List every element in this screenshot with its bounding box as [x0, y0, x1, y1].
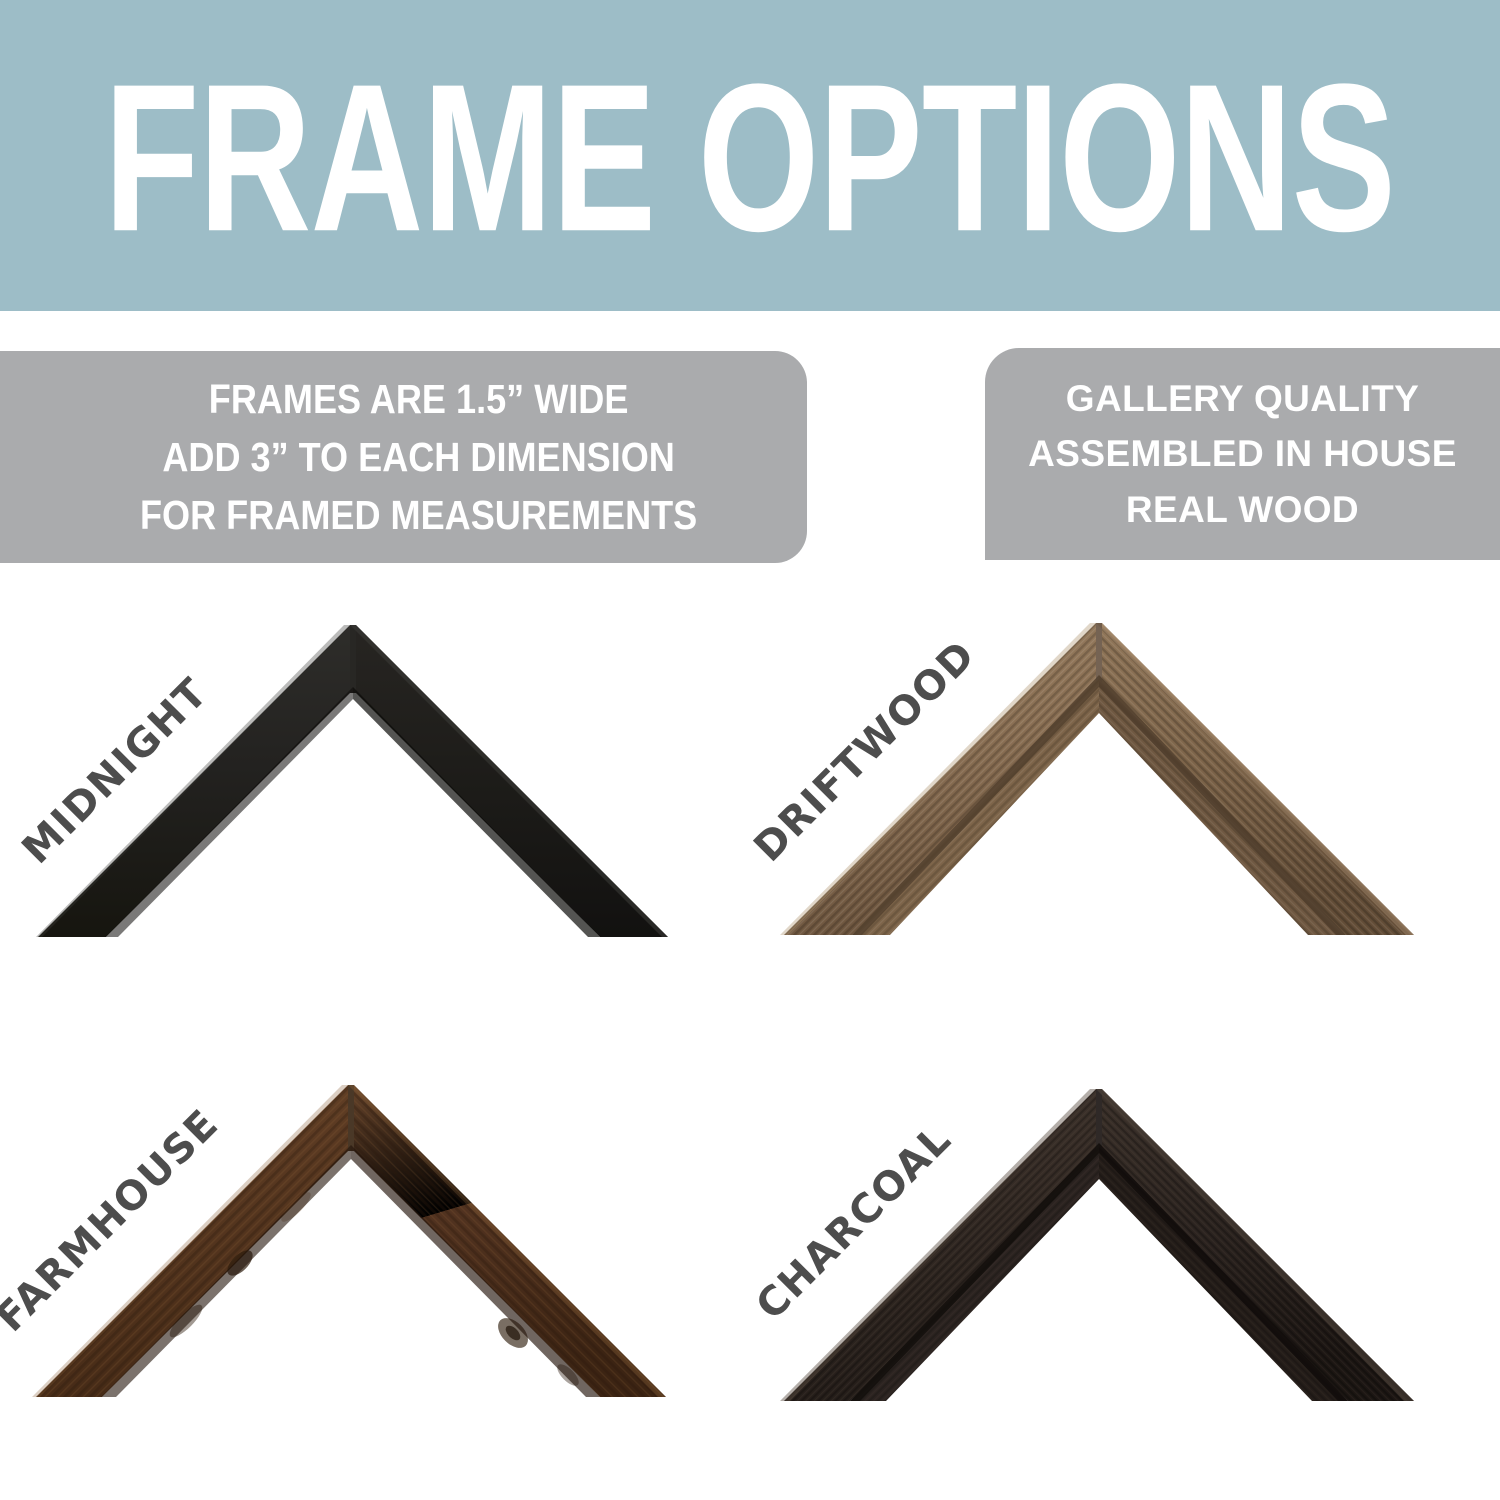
header-banner: FRAME OPTIONS	[0, 0, 1500, 311]
measurements-note-text: FRAMES ARE 1.5” WIDE ADD 3” TO EACH DIME…	[140, 370, 697, 545]
frame-option-midnight[interactable]: MIDNIGHT	[0, 575, 750, 1035]
page-title: FRAME OPTIONS	[104, 53, 1395, 263]
frame-corner-image-charcoal	[778, 1075, 1428, 1405]
frame-corner-image-farmhouse	[28, 1075, 678, 1405]
frame-option-driftwood[interactable]: DRIFTWOOD	[750, 575, 1500, 1035]
frame-options-grid: MIDNIGHT	[0, 575, 1500, 1500]
frame-option-charcoal[interactable]: CHARCOAL	[750, 1037, 1500, 1497]
frame-option-farmhouse[interactable]: FARMHOUSE	[0, 1037, 750, 1497]
quality-note-text: GALLERY QUALITY ASSEMBLED IN HOUSE REAL …	[1028, 371, 1457, 538]
frame-corner-image-driftwood	[778, 613, 1428, 943]
info-box-quality: GALLERY QUALITY ASSEMBLED IN HOUSE REAL …	[985, 348, 1500, 560]
info-box-measurements: FRAMES ARE 1.5” WIDE ADD 3” TO EACH DIME…	[0, 351, 807, 563]
